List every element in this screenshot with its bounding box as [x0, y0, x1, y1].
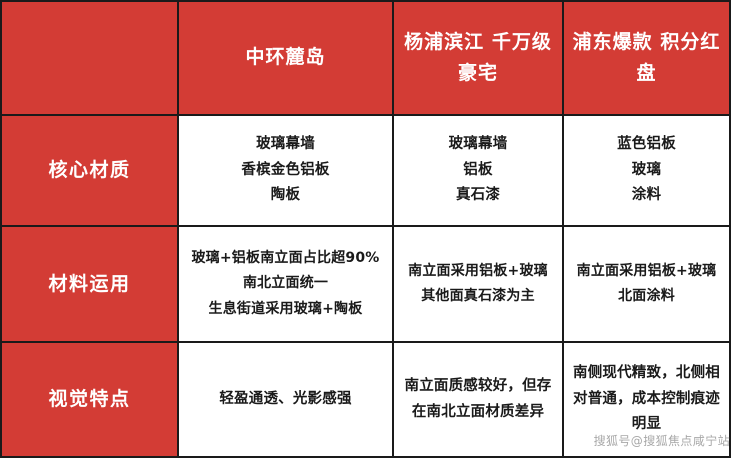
- row-label-visual-character: 视觉特点: [1, 342, 178, 457]
- row-label-material-usage: 材料运用: [1, 226, 178, 342]
- cell-line: 蓝色铝板: [568, 132, 725, 157]
- cell-line: 玻璃幕墙: [183, 132, 388, 157]
- header-cell-project-a: 中环麓岛: [178, 1, 393, 115]
- cell-lines: 南侧现代精致，北侧相对普通，成本控制痕迹明显: [568, 361, 725, 437]
- row-label-text: 材料运用: [6, 271, 173, 298]
- cell-line: 轻盈通透、光影感强: [183, 387, 388, 412]
- header-b-lines: 杨浦滨江 千万级豪宅: [398, 27, 558, 90]
- cell-line: 香槟金色铝板: [183, 158, 388, 183]
- cell-lines: 南立面采用铝板+玻璃 其他面真石漆为主: [398, 259, 558, 309]
- row-label-text: 视觉特点: [6, 386, 173, 413]
- cell-line: 陶板: [183, 183, 388, 208]
- cell-line: 南立面采用铝板+玻璃: [568, 259, 725, 284]
- cell-line: 铝板: [398, 158, 558, 183]
- cell-r2-project-a: 玻璃+铝板南立面占比超90% 南北立面统一 生息街道采用玻璃+陶板: [178, 226, 393, 342]
- cell-line: 玻璃+铝板南立面占比超90%: [183, 246, 388, 271]
- cell-lines: 南立面质感较好，但存 在南北立面材质差异: [398, 374, 558, 425]
- cell-line: 南立面采用铝板+玻璃: [398, 259, 558, 284]
- header-c-line-1: 浦东爆款: [573, 31, 653, 53]
- header-c-lines: 浦东爆款 积分红盘: [568, 27, 725, 90]
- cell-r1-project-a: 玻璃幕墙 香槟金色铝板 陶板: [178, 115, 393, 226]
- table-row: 视觉特点 轻盈通透、光影感强 南立面质感较好，但存 在南北立面材质差异 南侧现代: [1, 342, 730, 457]
- cell-line: 北面涂料: [568, 284, 725, 309]
- table-row: 材料运用 玻璃+铝板南立面占比超90% 南北立面统一 生息街道采用玻璃+陶板 南…: [1, 226, 730, 342]
- cell-lines: 蓝色铝板 玻璃 涂料: [568, 132, 725, 208]
- cell-r2-project-c: 南立面采用铝板+玻璃 北面涂料: [563, 226, 730, 342]
- cell-r1-project-b: 玻璃幕墙 铝板 真石漆: [393, 115, 563, 226]
- header-cell-project-b: 杨浦滨江 千万级豪宅: [393, 1, 563, 115]
- cell-lines: 南立面采用铝板+玻璃 北面涂料: [568, 259, 725, 309]
- cell-line: 南北立面统一: [183, 271, 388, 296]
- material-comparison-table: 中环麓岛 杨浦滨江 千万级豪宅 浦东爆款 积分红盘: [0, 0, 731, 458]
- header-a-line-1: 中环麓岛: [245, 46, 325, 68]
- comparison-table-page: 中环麓岛 杨浦滨江 千万级豪宅 浦东爆款 积分红盘: [0, 0, 740, 457]
- cell-r3-project-b: 南立面质感较好，但存 在南北立面材质差异: [393, 342, 563, 457]
- cell-line: 南侧现代精致，北侧相对普通，成本控制痕迹明显: [568, 361, 725, 437]
- cell-line: 在南北立面材质差异: [398, 400, 558, 425]
- cell-line: 生息街道采用玻璃+陶板: [183, 297, 388, 322]
- cell-line: 南立面质感较好，但存: [398, 374, 558, 399]
- cell-r3-project-c: 南侧现代精致，北侧相对普通，成本控制痕迹明显: [563, 342, 730, 457]
- cell-r2-project-b: 南立面采用铝板+玻璃 其他面真石漆为主: [393, 226, 563, 342]
- cell-r1-project-c: 蓝色铝板 玻璃 涂料: [563, 115, 730, 226]
- cell-lines: 玻璃幕墙 铝板 真石漆: [398, 132, 558, 208]
- header-cell-corner-empty: [1, 1, 178, 115]
- row-label-core-material: 核心材质: [1, 115, 178, 226]
- cell-line: 涂料: [568, 183, 725, 208]
- cell-line: 玻璃幕墙: [398, 132, 558, 157]
- row-label-text: 核心材质: [6, 157, 173, 184]
- cell-line: 真石漆: [398, 183, 558, 208]
- cell-line: 其他面真石漆为主: [398, 284, 558, 309]
- cell-r3-project-a: 轻盈通透、光影感强: [178, 342, 393, 457]
- header-a-lines: 中环麓岛: [183, 42, 388, 73]
- cell-lines: 玻璃+铝板南立面占比超90% 南北立面统一 生息街道采用玻璃+陶板: [183, 246, 388, 322]
- cell-lines: 轻盈通透、光影感强: [183, 387, 388, 412]
- cell-lines: 玻璃幕墙 香槟金色铝板 陶板: [183, 132, 388, 208]
- table-header-row: 中环麓岛 杨浦滨江 千万级豪宅 浦东爆款 积分红盘: [1, 1, 730, 115]
- table-row: 核心材质 玻璃幕墙 香槟金色铝板 陶板 玻璃幕墙 铝板 真石漆: [1, 115, 730, 226]
- header-b-line-1: 杨浦滨江: [404, 31, 484, 53]
- cell-line: 玻璃: [568, 158, 725, 183]
- header-cell-project-c: 浦东爆款 积分红盘: [563, 1, 730, 115]
